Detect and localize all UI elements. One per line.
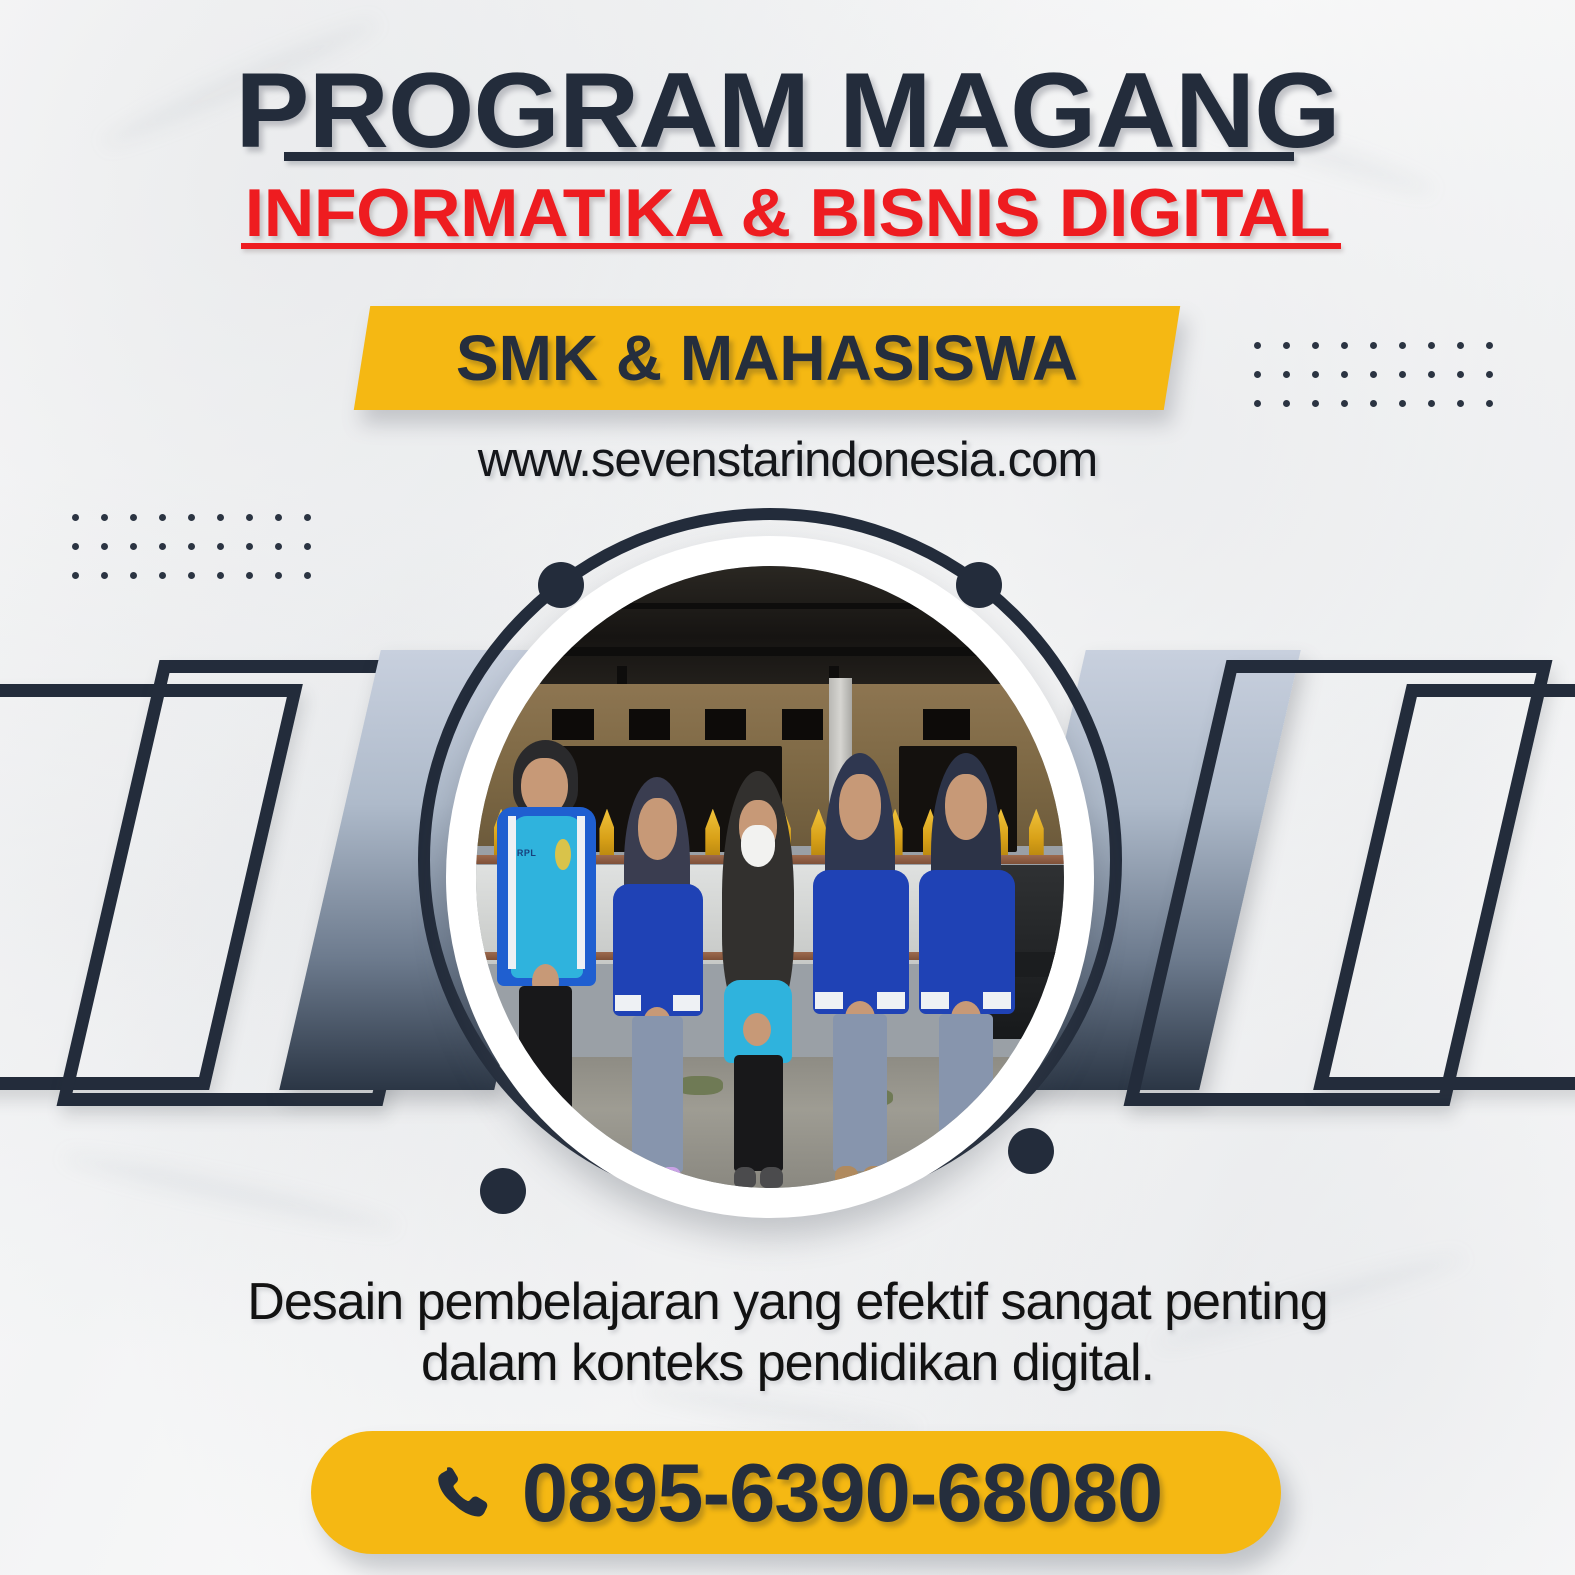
page-subtitle: INFORMATIKA & BISNIS DIGITAL (0, 179, 1575, 247)
photo-beam (500, 647, 1041, 656)
photo-student (611, 777, 705, 1188)
ring-accent-dot (956, 562, 1002, 608)
audience-ribbon-label: SMK & MAHASISWA (362, 306, 1172, 410)
photo-rpl-badge-text: RPL (517, 848, 537, 858)
photo-window (923, 709, 970, 740)
photo-window (629, 709, 670, 740)
photo-circle: RPL (418, 508, 1122, 1248)
tagline-line-2: dalam konteks pendidikan digital. (120, 1333, 1455, 1394)
subtitle-underline (241, 243, 1341, 249)
photo-school-badge (555, 839, 571, 870)
ring-accent-dot (1008, 1128, 1054, 1174)
title-underline (284, 152, 1294, 161)
tagline: Desain pembelajaran yang efektif sangat … (120, 1272, 1455, 1395)
photo-window (552, 709, 593, 740)
phone-cta-content[interactable]: 0895-6390-68080 (311, 1431, 1281, 1554)
photo-beam (535, 603, 1005, 609)
photo-face-mask (741, 825, 775, 867)
bg-vein (61, 1145, 399, 1239)
photo-student: RPL (494, 740, 600, 1188)
decor-dot-grid-left (72, 514, 311, 579)
website-url[interactable]: www.sevenstarindonesia.com (0, 432, 1575, 488)
decor-dot-grid-right (1254, 342, 1493, 407)
photo-window (782, 709, 823, 740)
students-photo: RPL (476, 566, 1064, 1188)
photo-window (705, 709, 746, 740)
phone-handset-icon (430, 1462, 492, 1524)
photo-student (917, 753, 1017, 1188)
ring-accent-dot (480, 1168, 526, 1214)
photo-student (711, 771, 805, 1188)
ring-accent-dot (538, 562, 584, 608)
photo-student (811, 753, 911, 1188)
page-title: PROGRAM MAGANG (0, 57, 1575, 164)
poster-canvas: PROGRAM MAGANG INFORMATIKA & BISNIS DIGI… (0, 0, 1575, 1575)
phone-number: 0895-6390-68080 (522, 1445, 1162, 1541)
tagline-line-1: Desain pembelajaran yang efektif sangat … (120, 1272, 1455, 1333)
